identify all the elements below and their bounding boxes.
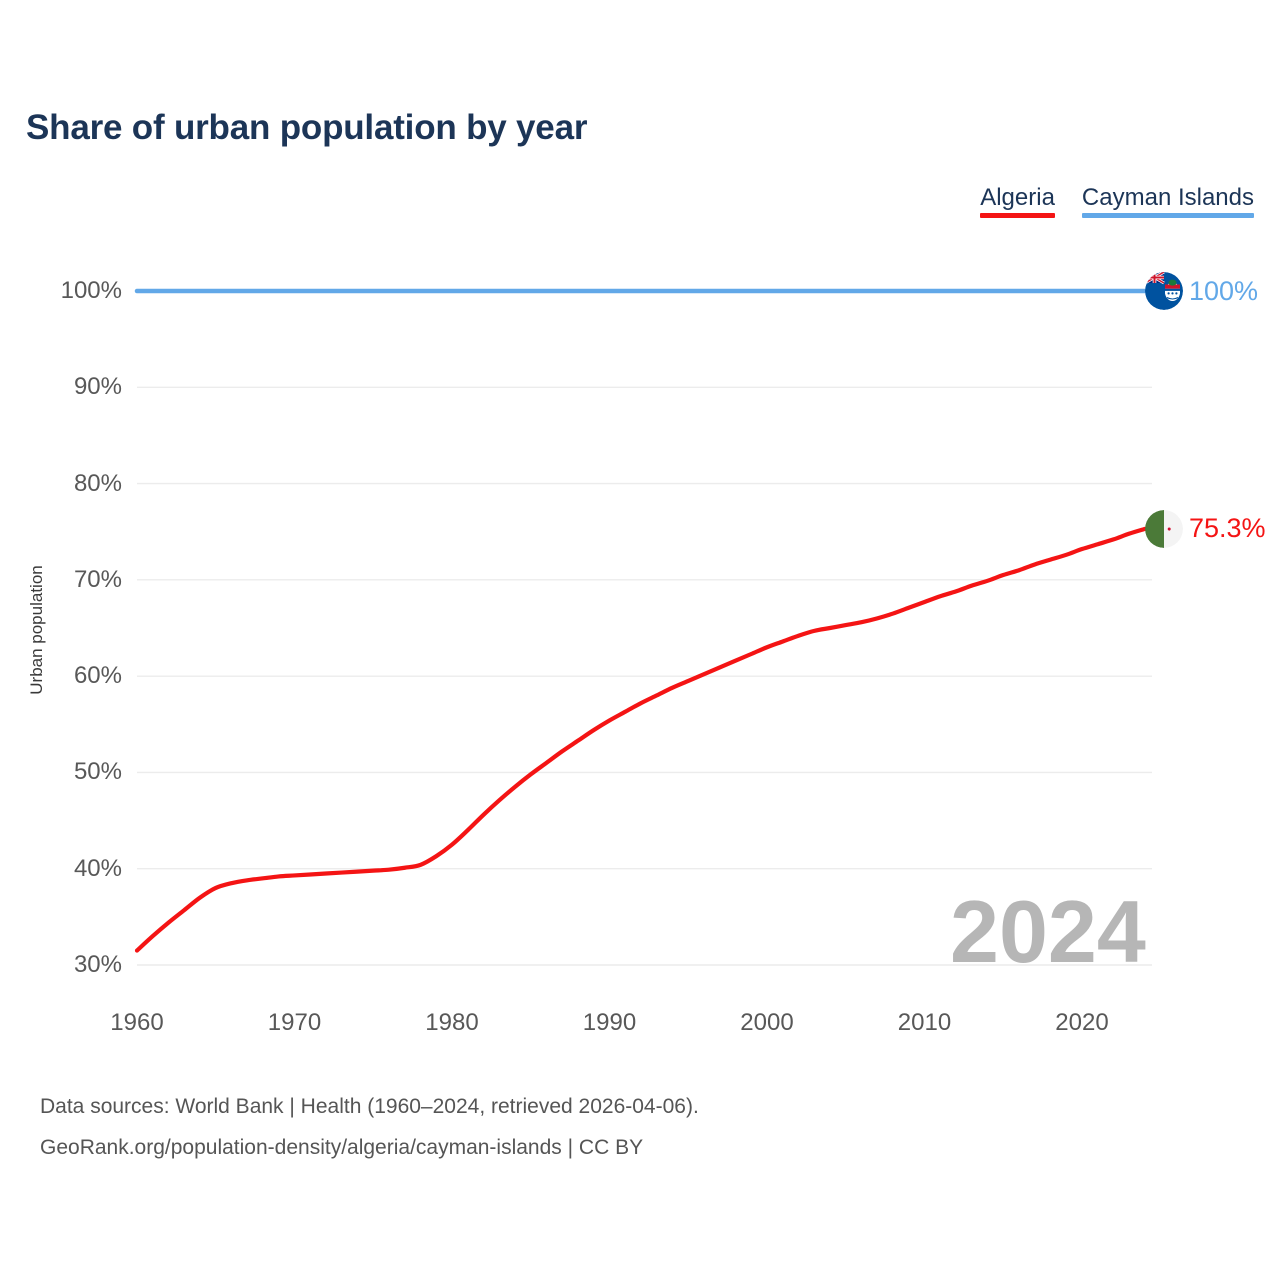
footer-sources: Data sources: World Bank | Health (1960–…: [40, 1086, 699, 1168]
endpoint-algeria[interactable]: 75.3%: [1145, 510, 1266, 548]
footer-line-1: Data sources: World Bank | Health (1960–…: [40, 1086, 699, 1127]
chart-page: Share of urban population by year Algeri…: [0, 0, 1280, 1280]
endpoint-value-algeria: 75.3%: [1189, 513, 1266, 544]
x-tick-label-2010: 2010: [898, 1009, 951, 1037]
y-axis-title: Urban population: [27, 540, 47, 720]
cayman-islands-flag-icon: [1145, 272, 1183, 310]
x-tick-label-1970: 1970: [268, 1009, 321, 1037]
x-tick-label-1980: 1980: [425, 1009, 478, 1037]
x-tick-label-2000: 2000: [740, 1009, 793, 1037]
x-tick-label-1960: 1960: [110, 1009, 163, 1037]
endpoint-cayman-islands[interactable]: 100%: [1145, 272, 1258, 310]
x-tick-label-1990: 1990: [583, 1009, 636, 1037]
algeria-flag-icon: [1145, 510, 1183, 548]
endpoint-value-cayman-islands: 100%: [1189, 276, 1258, 307]
footer-line-2: GeoRank.org/population-density/algeria/c…: [40, 1127, 699, 1168]
x-tick-label-2020: 2020: [1055, 1009, 1108, 1037]
